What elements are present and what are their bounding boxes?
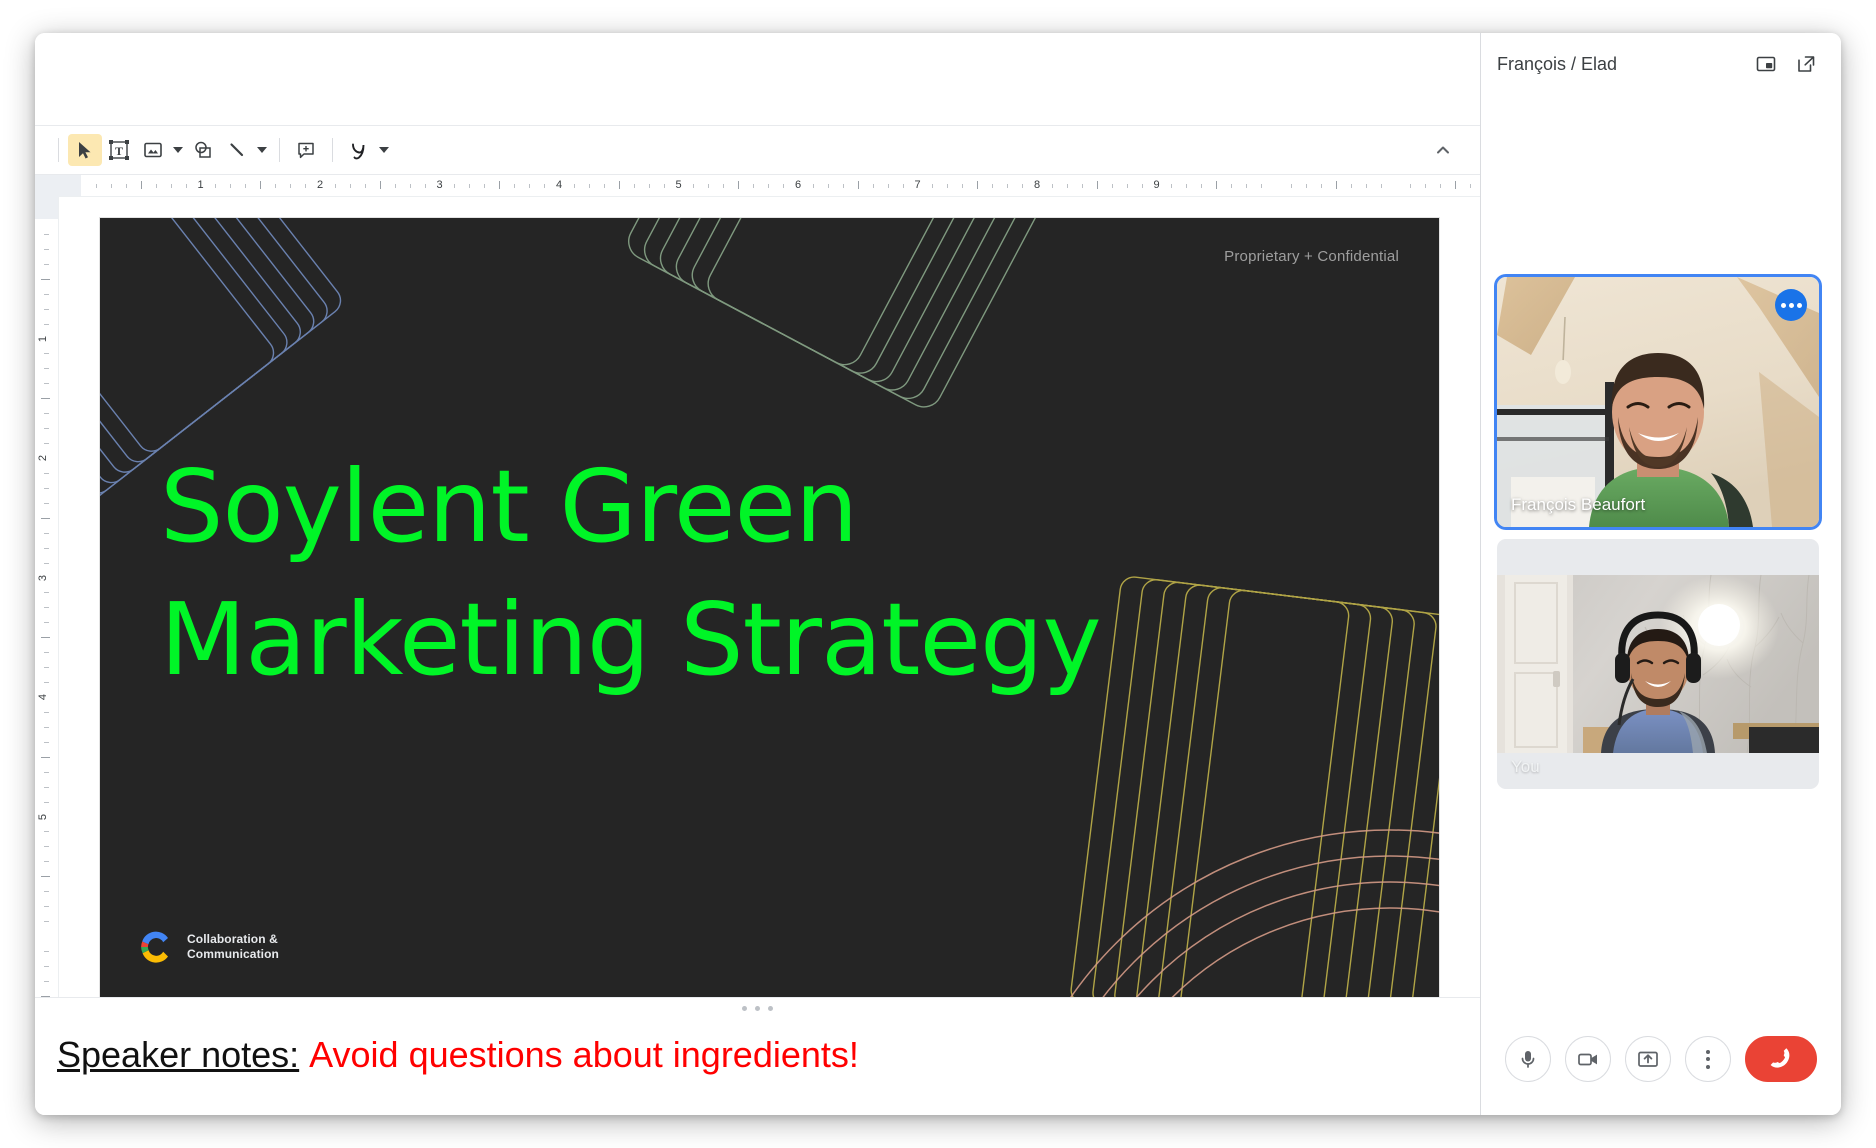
ruler-tick <box>604 184 605 188</box>
ruler-tick <box>44 787 49 788</box>
ruler-tick <box>514 184 515 188</box>
select-tool-button[interactable] <box>68 134 102 166</box>
ruler-tick <box>768 184 769 188</box>
ruler-tick <box>783 184 784 188</box>
ruler-tick <box>454 184 455 188</box>
ruler-tick <box>813 184 814 188</box>
ruler-tick <box>619 181 620 189</box>
ruler-tick <box>44 906 49 907</box>
ruler-tick <box>1112 184 1113 188</box>
ruler-tick <box>469 184 470 188</box>
handle-dot <box>755 1006 760 1011</box>
ruler-tick <box>44 264 49 265</box>
speaker-notes-label: Speaker notes: <box>57 1034 299 1075</box>
video-camera-icon <box>1576 1048 1600 1070</box>
ruler-tick <box>126 184 127 188</box>
ruler-tick <box>828 184 829 188</box>
speaker-notes-pane[interactable]: Speaker notes: Avoid questions about ing… <box>35 1019 1480 1115</box>
participant-video <box>1497 277 1819 527</box>
ruler-tick <box>589 184 590 188</box>
slide[interactable]: Proprietary + Confidential Soylent Green… <box>100 218 1439 1001</box>
ruler-tick <box>41 398 50 399</box>
speaker-notes-text[interactable]: Avoid questions about ingredients! <box>309 1034 859 1075</box>
ruler-tick <box>260 181 261 189</box>
ruler-tick <box>1171 184 1172 188</box>
ruler-tick <box>305 184 306 188</box>
ruler-tick <box>44 368 49 369</box>
handle-dot <box>768 1006 773 1011</box>
ruler-tick <box>977 181 978 189</box>
ruler-number: 4 <box>556 179 562 191</box>
ruler-tick <box>44 682 49 683</box>
line-tool-button[interactable] <box>220 134 254 166</box>
ruler-tick <box>753 184 754 188</box>
ruler-tick <box>932 184 933 188</box>
pen-tool-dropdown-caret[interactable] <box>376 134 392 166</box>
ruler-tick <box>44 712 49 713</box>
ruler-tick <box>708 184 709 188</box>
ruler-tick <box>186 184 187 188</box>
ruler-tick <box>1231 184 1232 188</box>
ruler-tick <box>843 184 844 188</box>
ruler-number: 6 <box>795 179 801 191</box>
notes-resize-handle[interactable] <box>35 997 1480 1019</box>
ruler-tick <box>1201 184 1202 188</box>
ruler-tick <box>1470 184 1471 188</box>
ruler-tick <box>903 184 904 188</box>
ruler-tick <box>1052 184 1053 188</box>
slide-title[interactable]: Soylent Green Marketing Strategy <box>160 440 1210 706</box>
ruler-tick <box>44 951 49 952</box>
ruler-tick <box>44 563 49 564</box>
participant-tile-you[interactable]: You <box>1497 539 1819 789</box>
brand-name: Collaboration & Communication <box>187 932 279 962</box>
ruler-tick <box>44 249 49 250</box>
ruler-number: 5 <box>675 179 681 191</box>
ruler-tick <box>44 861 49 862</box>
pen-annotation-tool-button[interactable] <box>342 134 376 166</box>
ruler-tick <box>992 184 993 188</box>
ruler-tick <box>723 184 724 188</box>
ruler-tick <box>425 184 426 188</box>
ruler-margin-left <box>59 175 81 196</box>
confidential-label: Proprietary + Confidential <box>1224 248 1399 265</box>
camera-button[interactable] <box>1565 1036 1611 1082</box>
ruler-tick <box>44 802 49 803</box>
ruler-tick <box>1425 184 1426 188</box>
ruler-tick <box>484 184 485 188</box>
horizontal-ruler-track[interactable]: 123456789 <box>59 175 1480 196</box>
ruler-tick <box>529 184 530 188</box>
open-in-new-icon <box>1795 53 1817 75</box>
ruler-tick <box>44 488 49 489</box>
ruler-tick <box>1321 184 1322 188</box>
ruler-tick <box>544 184 545 188</box>
brand-lockup: Collaboration & Communication <box>135 927 279 967</box>
participant-name: You <box>1511 757 1540 777</box>
ruler-tick <box>44 772 49 773</box>
ruler-tick <box>44 309 49 310</box>
ruler-number: 7 <box>914 179 920 191</box>
ruler-tick <box>1082 184 1083 188</box>
ruler-tick <box>335 184 336 188</box>
hang-up-phone-icon <box>1766 1048 1796 1070</box>
ruler-tick <box>365 184 366 188</box>
ruler-tick <box>947 184 948 188</box>
collaboration-c-logo-icon <box>135 927 175 967</box>
ruler-tick <box>858 181 859 189</box>
ruler-tick <box>44 533 49 534</box>
add-comment-tool-button[interactable] <box>289 134 323 166</box>
ruler-tick <box>41 637 50 638</box>
picture-in-picture-icon <box>1755 53 1777 75</box>
ruler-number: 1 <box>37 335 49 341</box>
ruler-tick <box>1186 184 1187 188</box>
ruler-tick <box>44 294 49 295</box>
ruler-tick <box>1366 184 1367 188</box>
tile-more-options-button[interactable] <box>1775 289 1807 321</box>
ruler-tick <box>44 503 49 504</box>
ruler-number: 2 <box>317 179 323 191</box>
ruler-tick <box>649 184 650 188</box>
ruler-tick <box>245 184 246 188</box>
ruler-tick <box>1142 184 1143 188</box>
slides-editor-pane: T <box>35 33 1480 1115</box>
ruler-tick <box>44 891 49 892</box>
ruler-tick <box>275 184 276 188</box>
ruler-tick <box>395 184 396 188</box>
ruler-tick <box>1440 184 1441 188</box>
ruler-tick <box>44 742 49 743</box>
participant-tile-francois[interactable]: François Beaufort <box>1497 277 1819 527</box>
ruler-tick <box>44 443 49 444</box>
ruler-tick <box>1261 184 1262 188</box>
participant-tiles: François Beaufort <box>1481 95 1841 1011</box>
meet-call-controls <box>1481 1011 1841 1115</box>
ruler-number: 3 <box>436 179 442 191</box>
ruler-tick <box>171 184 172 188</box>
ruler-tick <box>44 607 49 608</box>
shape-tool-button[interactable] <box>186 134 220 166</box>
ruler-tick <box>1216 181 1217 189</box>
ruler-tick <box>1067 184 1068 188</box>
insert-image-tool-button[interactable] <box>136 134 170 166</box>
ruler-margin-top <box>35 197 58 219</box>
insert-image-dropdown-caret[interactable] <box>170 134 186 166</box>
toolbar-divider <box>58 138 59 162</box>
ruler-tick <box>1127 184 1128 188</box>
ruler-tick <box>41 279 50 280</box>
dot <box>1706 1065 1710 1069</box>
ruler-tick <box>96 184 97 188</box>
hang-up-button[interactable] <box>1745 1036 1817 1082</box>
ruler-tick <box>44 831 49 832</box>
ruler-tick <box>41 757 50 758</box>
ruler-tick <box>634 184 635 188</box>
present-screen-icon <box>1636 1048 1660 1070</box>
more-dot <box>1789 303 1794 308</box>
ruler-tick <box>693 184 694 188</box>
ruler-number: 3 <box>37 574 49 580</box>
ruler-tick <box>574 184 575 188</box>
ruler-tick <box>1336 181 1337 189</box>
ruler-tick <box>44 473 49 474</box>
participant-name: François Beaufort <box>1511 495 1645 515</box>
meet-call-title: François / Elad <box>1497 54 1743 75</box>
ruler-tick <box>1022 184 1023 188</box>
ruler-tick <box>44 667 49 668</box>
app-window: T <box>35 33 1841 1115</box>
ruler-number: 1 <box>197 179 203 191</box>
editor-menu-area <box>35 33 1480 125</box>
ruler-tick <box>290 184 291 188</box>
ruler-tick <box>1455 181 1456 189</box>
horizontal-ruler[interactable]: 123456789 <box>35 175 1480 197</box>
ruler-number: 4 <box>37 694 49 700</box>
ruler-tick <box>410 184 411 188</box>
ruler-tick <box>873 184 874 188</box>
more-dot <box>1781 303 1786 308</box>
dot <box>1706 1057 1710 1061</box>
collapse-menus-button[interactable] <box>1428 135 1458 165</box>
slide-canvas-row: 12345 <box>35 197 1480 997</box>
participant-video <box>1497 575 1819 753</box>
vertical-ruler[interactable]: 12345 <box>35 197 59 997</box>
ruler-tick <box>44 592 49 593</box>
microphone-button[interactable] <box>1505 1036 1551 1082</box>
meet-header: François / Elad <box>1481 33 1841 95</box>
toolbar-divider-3 <box>332 138 333 162</box>
ruler-tick <box>380 181 381 189</box>
ruler-tick <box>44 383 49 384</box>
ruler-tick <box>230 184 231 188</box>
line-tool-dropdown-caret[interactable] <box>254 134 270 166</box>
ruler-number: 8 <box>1034 179 1040 191</box>
svg-text:T: T <box>115 144 123 158</box>
more-vertical-icon <box>1706 1050 1710 1069</box>
meet-side-panel: François / Elad <box>1480 33 1841 1115</box>
ruler-tick <box>156 184 157 188</box>
ruler-tick <box>41 876 50 877</box>
ruler-tick <box>350 184 351 188</box>
ruler-tick <box>44 652 49 653</box>
ruler-tick <box>44 981 49 982</box>
ruler-corner <box>35 175 59 197</box>
slide-canvas[interactable]: Proprietary + Confidential Soylent Green… <box>59 197 1480 997</box>
ruler-tick <box>962 184 963 188</box>
more-options-button[interactable] <box>1685 1036 1731 1082</box>
ruler-tick <box>888 184 889 188</box>
ruler-tick <box>111 184 112 188</box>
ruler-tick <box>44 921 49 922</box>
ruler-tick <box>1306 184 1307 188</box>
text-box-tool-button[interactable]: T <box>102 134 136 166</box>
handle-dot <box>742 1006 747 1011</box>
ruler-tick <box>44 234 49 235</box>
dot <box>1706 1050 1710 1054</box>
ruler-tick <box>141 181 142 189</box>
ruler-tick <box>1351 184 1352 188</box>
ruler-tick <box>44 966 49 967</box>
ruler-number: 2 <box>37 455 49 461</box>
open-in-new-button[interactable] <box>1789 47 1823 81</box>
microphone-icon <box>1517 1048 1539 1070</box>
ruler-tick <box>1246 184 1247 188</box>
ruler-tick <box>499 181 500 189</box>
ruler-tick <box>215 184 216 188</box>
more-dot <box>1797 303 1802 308</box>
ruler-tick <box>44 428 49 429</box>
toolbar-divider-2 <box>279 138 280 162</box>
ruler-tick <box>44 622 49 623</box>
ruler-tick <box>664 184 665 188</box>
ruler-tick <box>44 548 49 549</box>
ruler-tick <box>1410 184 1411 188</box>
ruler-tick <box>44 846 49 847</box>
ruler-tick <box>44 353 49 354</box>
ruler-tick <box>44 727 49 728</box>
picture-in-picture-button[interactable] <box>1749 47 1783 81</box>
ruler-tick <box>1291 184 1292 188</box>
ruler-tick <box>41 518 50 519</box>
present-screen-button[interactable] <box>1625 1036 1671 1082</box>
slides-toolbar: T <box>35 125 1480 175</box>
ruler-tick <box>44 413 49 414</box>
ruler-tick <box>44 324 49 325</box>
ruler-tick <box>1097 181 1098 189</box>
ruler-tick <box>738 181 739 189</box>
ruler-tick <box>1007 184 1008 188</box>
ruler-number: 5 <box>37 813 49 819</box>
ruler-tick <box>1381 184 1382 188</box>
ruler-number: 9 <box>1153 179 1159 191</box>
